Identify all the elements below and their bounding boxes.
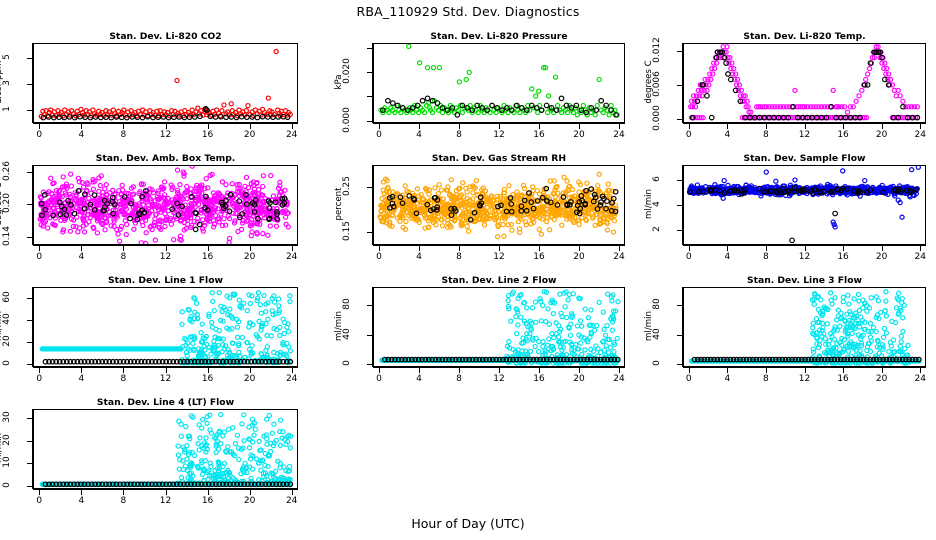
x-tick xyxy=(208,368,209,373)
x-tick-label: 4 xyxy=(405,374,433,384)
x-tick-label: 16 xyxy=(525,130,553,140)
x-tick-label: 0 xyxy=(25,374,53,384)
panel-amb-box-temp: Stan. Dev. Amb. Box Temp.0.140.200.26048… xyxy=(12,153,298,265)
x-tick xyxy=(250,124,251,129)
y-tick xyxy=(27,486,32,487)
x-tick-label: 24 xyxy=(906,130,934,140)
x-tick-label: 12 xyxy=(791,374,819,384)
plot-area xyxy=(33,165,298,245)
x-tick xyxy=(727,246,728,251)
x-tick xyxy=(39,124,40,129)
x-tick-label: 16 xyxy=(525,252,553,262)
y-axis-label: degrees C xyxy=(0,164,4,244)
x-tick-label: 20 xyxy=(565,130,593,140)
panel-line1-flow: Stan. Dev. Line 1 Flow020406004812162024… xyxy=(12,275,298,387)
x-tick xyxy=(379,368,380,373)
x-tick xyxy=(843,246,844,251)
x-tick-label: 20 xyxy=(868,374,896,384)
y-tick xyxy=(27,463,32,464)
x-tick xyxy=(843,368,844,373)
x-tick-label: 24 xyxy=(278,130,306,140)
x-tick xyxy=(81,246,82,251)
x-tick-label: 8 xyxy=(752,374,780,384)
x-tick-label: 4 xyxy=(67,130,95,140)
x-tick-label: 0 xyxy=(365,374,393,384)
x-tick xyxy=(208,246,209,251)
x-tick xyxy=(250,490,251,495)
x-tick xyxy=(123,368,124,373)
x-tick xyxy=(419,246,420,251)
x-tick-label: 24 xyxy=(605,374,633,384)
y-tick xyxy=(367,72,372,73)
x-tick xyxy=(579,246,580,251)
data-layer xyxy=(374,44,624,122)
x-tick-label: 20 xyxy=(565,252,593,262)
x-tick xyxy=(499,368,500,373)
x-tick-label: 20 xyxy=(236,130,264,140)
x-tick xyxy=(166,246,167,251)
panel-title: Stan. Dev. Line 3 Flow xyxy=(683,275,926,286)
y-axis-label: ml/min xyxy=(0,408,4,488)
x-tick xyxy=(539,124,540,129)
x-tick xyxy=(166,490,167,495)
x-tick-label: 0 xyxy=(25,130,53,140)
x-tick xyxy=(727,368,728,373)
data-layer xyxy=(34,166,297,244)
x-tick-label: 16 xyxy=(194,252,222,262)
y-tick xyxy=(27,342,32,343)
x-tick-label: 0 xyxy=(25,252,53,262)
x-tick xyxy=(166,368,167,373)
y-axis-label: percent xyxy=(334,164,344,244)
y-axis-label: degrees C xyxy=(644,42,654,122)
y-tick xyxy=(367,305,372,306)
x-tick-label: 8 xyxy=(109,130,137,140)
x-tick xyxy=(166,124,167,129)
y-tick xyxy=(27,441,32,442)
panel-title: Stan. Dev. Amb. Box Temp. xyxy=(33,153,298,164)
x-tick-label: 4 xyxy=(67,374,95,384)
data-layer xyxy=(684,288,925,366)
plot-area xyxy=(373,43,625,123)
x-tick xyxy=(208,124,209,129)
x-tick-label: 0 xyxy=(675,252,703,262)
x-tick xyxy=(727,124,728,129)
x-tick-label: 24 xyxy=(278,374,306,384)
panel-line2-flow: Stan. Dev. Line 2 Flow0408004812162024ml… xyxy=(352,275,625,387)
x-tick-label: 12 xyxy=(485,374,513,384)
panel-title: Stan. Dev. Gas Stream RH xyxy=(373,153,625,164)
panel-title: Stan. Dev. Line 1 Flow xyxy=(33,275,298,286)
x-tick-label: 12 xyxy=(791,130,819,140)
x-tick xyxy=(39,490,40,495)
x-tick-label: 12 xyxy=(791,252,819,262)
x-tick-label: 8 xyxy=(445,130,473,140)
x-tick-label: 20 xyxy=(565,374,593,384)
y-tick xyxy=(367,364,372,365)
x-tick xyxy=(379,124,380,129)
x-tick-label: 24 xyxy=(605,252,633,262)
x-tick-label: 24 xyxy=(278,252,306,262)
x-tick xyxy=(805,368,806,373)
x-tick xyxy=(459,124,460,129)
data-layer xyxy=(34,288,297,366)
x-tick-label: 4 xyxy=(713,130,741,140)
x-tick xyxy=(39,368,40,373)
x-tick-label: 12 xyxy=(152,130,180,140)
panel-li820-pressure: Stan. Dev. Li-820 Pressure0.0000.0200481… xyxy=(352,31,625,143)
x-tick xyxy=(250,246,251,251)
x-tick xyxy=(539,368,540,373)
y-axis-label: ml/min xyxy=(334,286,344,366)
y-tick xyxy=(367,96,372,97)
y-tick xyxy=(27,364,32,365)
x-tick-label: 8 xyxy=(109,374,137,384)
plot-area xyxy=(33,409,298,489)
y-tick xyxy=(677,335,682,336)
y-axis xyxy=(372,287,373,367)
plot-area xyxy=(683,287,926,367)
x-tick-label: 4 xyxy=(67,252,95,262)
x-tick xyxy=(805,124,806,129)
x-tick xyxy=(459,246,460,251)
y-axis xyxy=(32,287,33,367)
figure-root: RBA_110929 Std. Dev. Diagnostics Hour of… xyxy=(0,0,936,540)
x-tick-label: 20 xyxy=(868,252,896,262)
y-axis xyxy=(372,165,373,245)
x-tick-label: 8 xyxy=(109,496,137,506)
y-axis xyxy=(32,43,33,123)
y-axis xyxy=(32,165,33,245)
y-tick xyxy=(27,84,32,85)
y-tick xyxy=(27,298,32,299)
y-axis-label: kPa xyxy=(334,42,344,122)
x-tick-label: 0 xyxy=(365,130,393,140)
x-tick-label: 16 xyxy=(829,252,857,262)
y-tick xyxy=(367,121,372,122)
y-tick xyxy=(27,237,32,238)
x-tick xyxy=(499,246,500,251)
y-tick xyxy=(677,205,682,206)
figure-title: RBA_110929 Std. Dev. Diagnostics xyxy=(0,4,936,19)
y-axis-label: ml/min xyxy=(0,286,4,366)
x-tick-label: 4 xyxy=(67,496,95,506)
y-axis-label: Licor ppm xyxy=(0,42,4,122)
y-axis xyxy=(32,409,33,489)
x-tick xyxy=(579,368,580,373)
panel-li820-co2: Stan. Dev. Li-820 CO213504812162024Licor… xyxy=(12,31,298,143)
x-tick-label: 20 xyxy=(868,130,896,140)
x-tick-label: 4 xyxy=(405,130,433,140)
y-tick xyxy=(677,85,682,86)
y-axis-label: ml/min xyxy=(644,286,654,366)
y-tick xyxy=(27,58,32,59)
x-tick xyxy=(419,368,420,373)
x-tick-label: 8 xyxy=(445,252,473,262)
data-layer xyxy=(34,410,297,488)
data-layer xyxy=(684,166,925,244)
data-layer xyxy=(34,44,297,122)
y-tick xyxy=(367,48,372,49)
x-tick-label: 12 xyxy=(152,252,180,262)
x-tick xyxy=(882,124,883,129)
x-tick xyxy=(292,124,293,129)
panel-line4-lt-flow: Stan. Dev. Line 4 (LT) Flow0102030048121… xyxy=(12,397,298,509)
x-tick xyxy=(689,246,690,251)
plot-area xyxy=(373,287,625,367)
plot-area xyxy=(33,43,298,123)
panel-title: Stan. Dev. Line 2 Flow xyxy=(373,275,625,286)
x-tick xyxy=(39,246,40,251)
data-layer xyxy=(374,288,624,366)
x-tick xyxy=(250,368,251,373)
x-tick xyxy=(81,124,82,129)
data-layer xyxy=(684,44,925,122)
x-tick xyxy=(920,246,921,251)
y-tick xyxy=(27,418,32,419)
x-tick-label: 16 xyxy=(829,374,857,384)
x-tick xyxy=(882,246,883,251)
x-tick xyxy=(123,490,124,495)
panel-li820-temp: Stan. Dev. Li-820 Temp.0.0000.0060.01204… xyxy=(662,31,926,143)
data-layer xyxy=(374,166,624,244)
x-tick-label: 0 xyxy=(675,130,703,140)
x-tick xyxy=(539,246,540,251)
x-tick-label: 4 xyxy=(713,252,741,262)
x-tick-label: 8 xyxy=(752,130,780,140)
figure-xlabel: Hour of Day (UTC) xyxy=(0,516,936,531)
x-tick xyxy=(81,368,82,373)
x-tick-label: 24 xyxy=(605,130,633,140)
x-tick xyxy=(292,368,293,373)
x-tick-label: 4 xyxy=(405,252,433,262)
x-tick-label: 20 xyxy=(236,496,264,506)
y-tick xyxy=(677,230,682,231)
x-tick xyxy=(81,490,82,495)
x-tick xyxy=(920,368,921,373)
x-tick xyxy=(882,368,883,373)
x-tick xyxy=(619,124,620,129)
y-tick xyxy=(367,232,372,233)
y-tick xyxy=(27,110,32,111)
panel-title: Stan. Dev. Line 4 (LT) Flow xyxy=(33,397,298,408)
plot-area xyxy=(33,287,298,367)
x-tick xyxy=(805,246,806,251)
panel-sample-flow: Stan. Dev. Sample Flow24604812162024ml/m… xyxy=(662,153,926,265)
y-axis xyxy=(372,43,373,123)
y-tick xyxy=(677,51,682,52)
x-tick xyxy=(292,246,293,251)
panel-gas-stream-rh: Stan. Dev. Gas Stream RH0.150.2504812162… xyxy=(352,153,625,265)
x-tick xyxy=(459,368,460,373)
y-tick xyxy=(677,305,682,306)
panel-line3-flow: Stan. Dev. Line 3 Flow0408004812162024ml… xyxy=(662,275,926,387)
x-tick-label: 16 xyxy=(525,374,553,384)
x-tick xyxy=(619,246,620,251)
x-tick-label: 12 xyxy=(485,252,513,262)
panel-title: Stan. Dev. Li-820 Pressure xyxy=(373,31,625,42)
x-tick xyxy=(689,124,690,129)
panel-title: Stan. Dev. Sample Flow xyxy=(683,153,926,164)
x-tick xyxy=(766,124,767,129)
y-axis xyxy=(682,165,683,245)
y-tick xyxy=(677,119,682,120)
y-tick xyxy=(367,335,372,336)
y-axis xyxy=(682,287,683,367)
x-tick xyxy=(843,124,844,129)
x-tick-label: 0 xyxy=(25,496,53,506)
x-tick-label: 20 xyxy=(236,252,264,262)
x-tick xyxy=(579,124,580,129)
x-tick xyxy=(766,246,767,251)
x-tick-label: 12 xyxy=(152,374,180,384)
x-tick-label: 8 xyxy=(109,252,137,262)
x-tick-label: 12 xyxy=(485,130,513,140)
plot-area xyxy=(683,43,926,123)
x-tick-label: 8 xyxy=(445,374,473,384)
x-tick-label: 0 xyxy=(365,252,393,262)
x-tick-label: 4 xyxy=(713,374,741,384)
plot-area xyxy=(683,165,926,245)
y-tick xyxy=(27,172,32,173)
x-tick-label: 16 xyxy=(194,374,222,384)
x-tick xyxy=(766,368,767,373)
panel-title: Stan. Dev. Li-820 Temp. xyxy=(683,31,926,42)
x-tick-label: 24 xyxy=(278,496,306,506)
x-tick-label: 24 xyxy=(906,252,934,262)
x-tick-label: 20 xyxy=(236,374,264,384)
x-tick xyxy=(292,490,293,495)
x-tick-label: 8 xyxy=(752,252,780,262)
y-tick xyxy=(677,364,682,365)
x-tick xyxy=(123,124,124,129)
x-tick xyxy=(379,246,380,251)
x-tick xyxy=(619,368,620,373)
y-axis-label: ml/min xyxy=(644,164,654,244)
y-tick xyxy=(677,180,682,181)
x-tick xyxy=(123,246,124,251)
x-tick-label: 0 xyxy=(675,374,703,384)
plot-area xyxy=(373,165,625,245)
y-tick xyxy=(367,187,372,188)
x-tick-label: 12 xyxy=(152,496,180,506)
x-tick xyxy=(499,124,500,129)
x-tick-label: 24 xyxy=(906,374,934,384)
x-tick-label: 16 xyxy=(829,130,857,140)
x-tick xyxy=(208,490,209,495)
panel-title: Stan. Dev. Li-820 CO2 xyxy=(33,31,298,42)
x-tick-label: 16 xyxy=(194,130,222,140)
y-axis xyxy=(682,43,683,123)
y-tick xyxy=(27,320,32,321)
x-tick xyxy=(689,368,690,373)
y-tick xyxy=(27,204,32,205)
x-tick-label: 16 xyxy=(194,496,222,506)
x-tick xyxy=(419,124,420,129)
x-tick xyxy=(920,124,921,129)
